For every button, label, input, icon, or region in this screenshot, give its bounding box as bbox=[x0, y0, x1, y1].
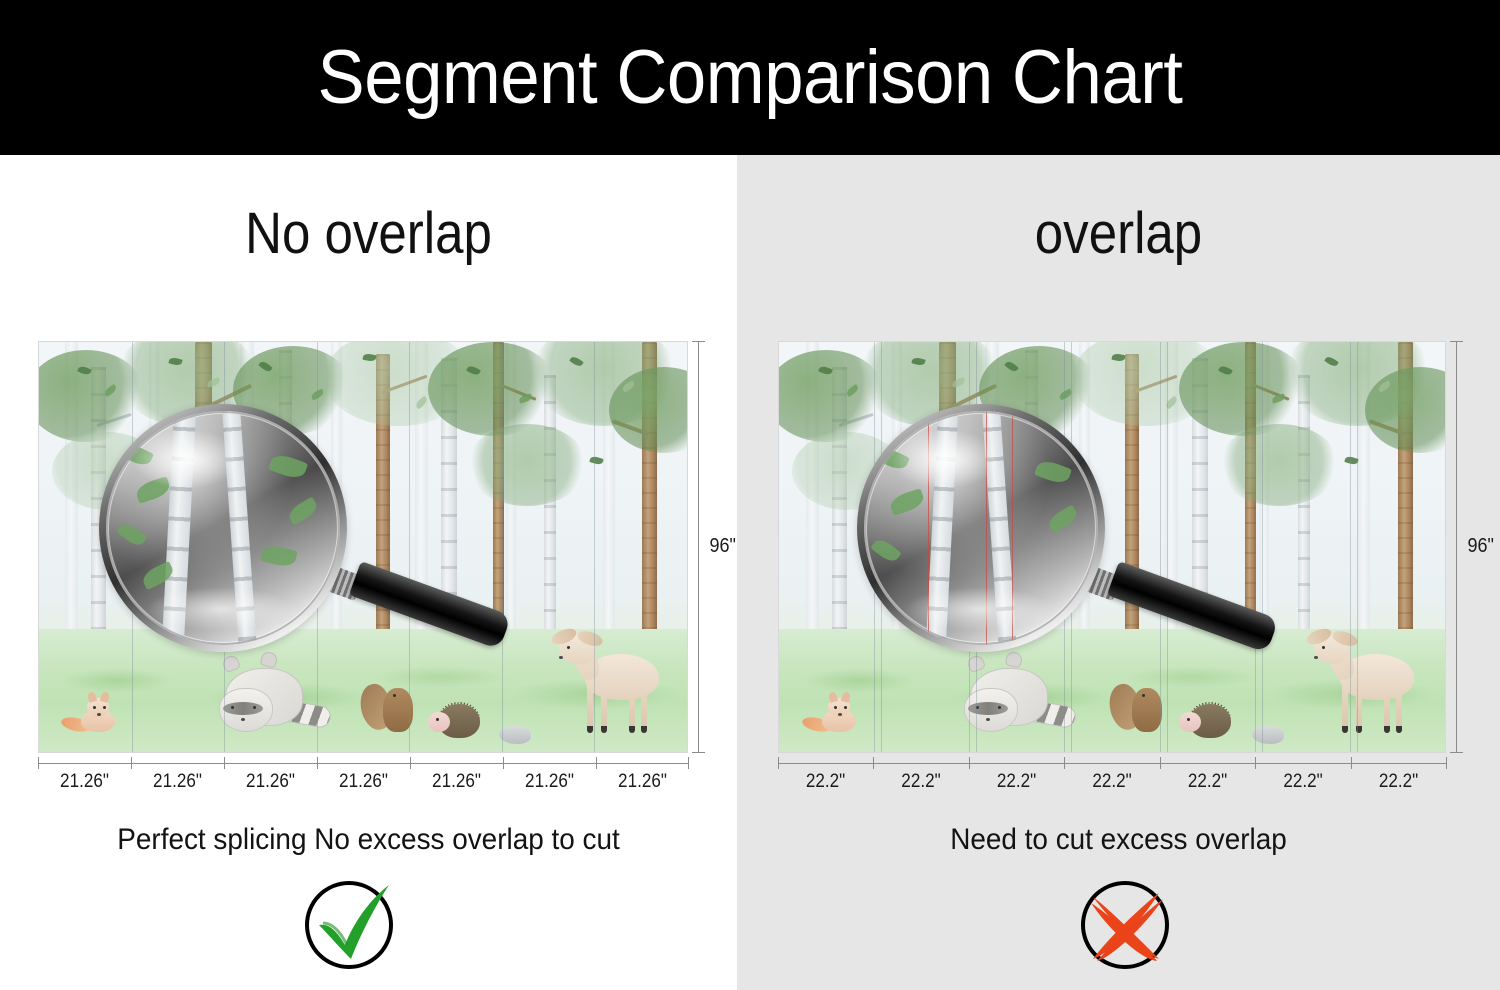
fox-figure bbox=[806, 692, 872, 740]
height-label-left: 96" bbox=[709, 535, 735, 558]
hedgehog-figure bbox=[1179, 698, 1237, 740]
segment-label-right: 22.2" bbox=[1069, 771, 1155, 793]
deer-figure bbox=[1312, 632, 1424, 744]
segment-label-left: 21.26" bbox=[322, 771, 406, 793]
raccoon-figure bbox=[207, 650, 357, 748]
panel-seam bbox=[594, 342, 595, 752]
height-label-right: 96" bbox=[1467, 535, 1493, 558]
panel-heading-overlap: overlap bbox=[783, 200, 1454, 267]
panel-overlap: overlap bbox=[737, 155, 1500, 990]
squirrel-figure bbox=[1112, 680, 1174, 736]
panel-seam bbox=[502, 342, 503, 752]
mural-figure-overlap: 96" bbox=[778, 341, 1446, 753]
raccoon-figure bbox=[952, 650, 1102, 748]
magnifier-lens bbox=[857, 404, 1105, 652]
deer-figure bbox=[557, 632, 669, 744]
segment-label-right: 22.2" bbox=[974, 771, 1060, 793]
magnifying-glass-overlap bbox=[857, 404, 1197, 644]
bird-figure bbox=[499, 726, 531, 744]
panel-seam-overlap-edge bbox=[1262, 342, 1263, 752]
squirrel-figure bbox=[363, 680, 425, 736]
fox-figure bbox=[65, 692, 131, 740]
segment-label-left: 21.26" bbox=[43, 771, 127, 793]
segment-label-left: 21.26" bbox=[601, 771, 685, 793]
panel-seam-overlap-edge bbox=[1357, 342, 1358, 752]
comparison-chart-page: Segment Comparison Chart No overlap bbox=[0, 0, 1500, 990]
segment-label-left: 21.26" bbox=[229, 771, 313, 793]
hedgehog-figure bbox=[428, 698, 486, 740]
magnifying-glass-no-overlap bbox=[99, 404, 429, 644]
panel-heading-no-overlap: No overlap bbox=[44, 200, 693, 267]
segment-label-right: 22.2" bbox=[1260, 771, 1346, 793]
segment-label-left: 21.26" bbox=[415, 771, 499, 793]
page-title: Segment Comparison Chart bbox=[318, 34, 1183, 121]
magnifier-lens bbox=[99, 404, 347, 652]
caption-no-overlap: Perfect splicing No excess overlap to cu… bbox=[26, 823, 711, 857]
mural-figure-no-overlap: 96" bbox=[38, 341, 688, 753]
cross-mark-icon bbox=[1067, 873, 1187, 977]
segment-label-right: 22.2" bbox=[1165, 771, 1251, 793]
segment-label-right: 22.2" bbox=[1356, 771, 1442, 793]
height-dimension-line-right bbox=[1456, 341, 1457, 753]
segment-label-left: 21.26" bbox=[136, 771, 220, 793]
height-dimension-line-left bbox=[698, 341, 699, 753]
check-mark-icon bbox=[293, 873, 413, 977]
bird-figure bbox=[1252, 726, 1284, 744]
panels-container: No overlap bbox=[0, 155, 1500, 990]
segment-label-right: 22.2" bbox=[878, 771, 964, 793]
title-banner: Segment Comparison Chart bbox=[0, 0, 1500, 155]
panel-seam bbox=[1350, 342, 1351, 752]
panel-no-overlap: No overlap bbox=[0, 155, 737, 990]
caption-overlap: Need to cut excess overlap bbox=[764, 823, 1474, 857]
panel-seam bbox=[1255, 342, 1256, 752]
mural-image-overlap bbox=[778, 341, 1446, 753]
segment-label-left: 21.26" bbox=[508, 771, 592, 793]
segment-label-right: 22.2" bbox=[783, 771, 869, 793]
mural-image-no-overlap bbox=[38, 341, 688, 753]
